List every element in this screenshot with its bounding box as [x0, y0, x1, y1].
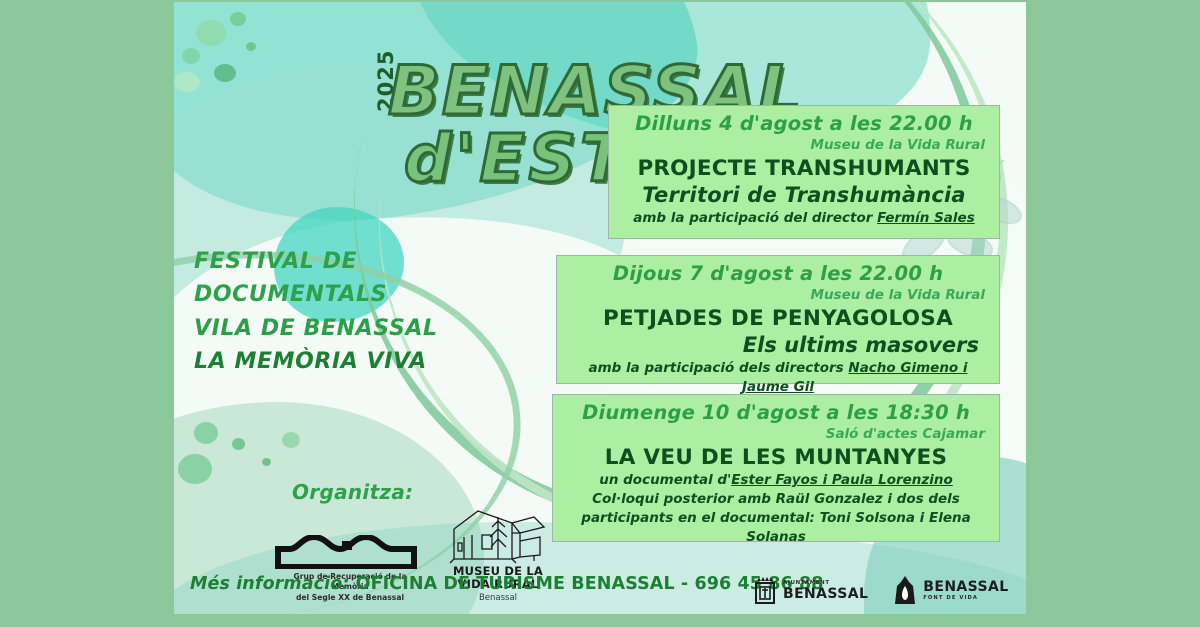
event-credit-names: Fermín Sales: [877, 210, 975, 226]
event-extra-line-2: participants en el documental: Toni Sols…: [567, 509, 985, 547]
sponsor-benassal-font-de-vida: BENASSAL FONT DE VIDA: [892, 575, 1008, 607]
sponsor-logos: AJUNTAMENT BENASSAL BENASSAL FONT DE VID…: [752, 560, 1026, 614]
event-card-3: Diumenge 10 d'agost a les 18:30 h Saló d…: [552, 394, 1000, 542]
footer-contact: Més informació: OFICINA DE TURISME BENAS…: [190, 574, 824, 594]
event-card-2: Dijous 7 d'agost a les 22.00 h Museu de …: [556, 255, 1000, 384]
event-credit-prefix: un documental d': [599, 472, 731, 488]
splatter-dot-icon: [182, 48, 200, 64]
coat-of-arms-icon: [752, 576, 778, 606]
event-subtitle: Els ultims masovers: [571, 332, 985, 359]
poster-canvas: 2025 BENASSAL d'ESTIU FESTIVAL DE DOCUME…: [174, 2, 1026, 614]
event-title: PROJECTE TRANSHUMANTS: [623, 155, 985, 183]
event-credit: un documental d'Ester Fayos i Paula Lore…: [567, 471, 985, 490]
event-credit: amb la participació dels directors Nacho…: [571, 359, 985, 397]
bridge-wall-icon: [274, 535, 422, 569]
event-credit-prefix: amb la participació del director: [633, 210, 877, 226]
event-credit: amb la participació del director Fermín …: [623, 209, 985, 228]
splatter-dot-icon: [174, 72, 200, 92]
logo-mvr-place: Benassal: [444, 593, 552, 603]
splatter-dot-icon: [246, 42, 256, 51]
event-title: PETJADES DE PENYAGOLOSA: [571, 305, 985, 333]
sponsor-main-text: BENASSAL: [783, 587, 868, 601]
splatter-dot-icon: [282, 432, 300, 448]
event-card-1: Dilluns 4 d'agost a les 22.00 h Museu de…: [608, 105, 1000, 239]
event-date: Diumenge 10 d'agost a les 18:30 h: [567, 401, 985, 425]
festival-line-4: LA MEMÒRIA VIVA: [194, 345, 494, 378]
splatter-dot-icon: [230, 12, 246, 26]
logo-grms-caption-line2: del Segle XX de Benassal: [274, 593, 426, 603]
festival-line-3: VILA DE BENASSAL: [194, 312, 494, 345]
festival-description: FESTIVAL DE DOCUMENTALS VILA DE BENASSAL…: [194, 245, 494, 379]
splatter-dot-icon: [196, 20, 226, 46]
poster-stage: 2025 BENASSAL d'ESTIU FESTIVAL DE DOCUME…: [0, 0, 1200, 627]
organizer-label: Organitza:: [292, 480, 562, 504]
splatter-dot-icon: [232, 438, 245, 450]
event-date: Dijous 7 d'agost a les 22.00 h: [571, 262, 985, 286]
organizer-section: Organitza:: [292, 480, 562, 504]
festival-line-1: FESTIVAL DE: [194, 245, 494, 278]
splatter-dot-icon: [178, 454, 212, 484]
splatter-dot-icon: [214, 64, 236, 82]
event-venue: Museu de la Vida Rural: [623, 136, 985, 154]
splatter-dot-icon: [262, 458, 271, 466]
sponsor-tagline: FONT DE VIDA: [923, 596, 1008, 601]
event-extra-line-1: Col·loqui posterior amb Raül Gonzalez i …: [567, 490, 985, 509]
event-venue: Saló d'actes Cajamar: [567, 425, 985, 443]
sponsor-main-text: BENASSAL: [923, 580, 1008, 594]
event-credit-names: Ester Fayos i Paula Lorenzino: [731, 472, 953, 488]
event-subtitle: Territori de Transhumància: [623, 182, 985, 209]
fountain-drop-icon: [892, 575, 918, 607]
event-credit-prefix: amb la participació dels directors: [588, 360, 848, 376]
festival-line-2: DOCUMENTALS: [194, 278, 494, 311]
rural-house-icon: [448, 507, 548, 565]
event-venue: Museu de la Vida Rural: [571, 286, 985, 304]
splatter-dot-icon: [194, 422, 218, 444]
event-title: LA VEU DE LES MUNTANYES: [567, 444, 985, 472]
footer-contact-prefix: Més informació:: [190, 574, 356, 594]
sponsor-ajuntament-benassal: AJUNTAMENT BENASSAL: [752, 576, 868, 606]
event-date: Dilluns 4 d'agost a les 22.00 h: [623, 112, 985, 136]
